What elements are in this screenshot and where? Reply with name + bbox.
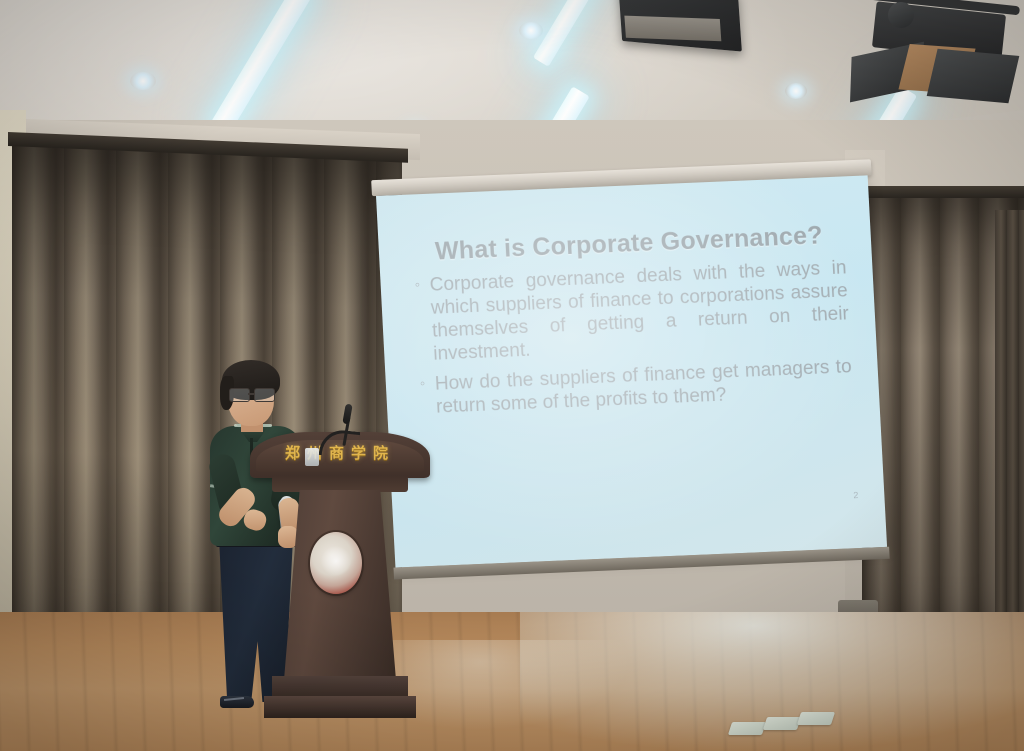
bullet-marker-icon: ◦ [419,373,435,395]
slide: What is Corporate Governance? ◦ Corporat… [376,175,887,567]
curtain-rail-right [858,186,1024,198]
floor-marker [728,722,766,735]
slide-number: 2 [853,490,859,500]
downlight-1 [130,72,156,90]
slide-bullet-2-text: How do the suppliers of finance get mana… [434,355,853,418]
projection-screen: What is Corporate Governance? ◦ Corporat… [376,175,889,599]
glasses-lens-right [254,388,275,402]
lectern: 郑州商学院 [250,432,430,722]
downlight-4 [785,83,807,99]
water-glass [305,448,319,466]
lectern-neck [272,476,408,492]
glasses-icon [229,388,275,400]
slide-bullet-1: ◦ Corporate governance deals with the wa… [414,256,850,366]
floor-marker [763,717,801,730]
slide-bullet-1-text: Corporate governance deals with the ways… [429,256,850,365]
slide-bullet-2: ◦ How do the suppliers of finance get ma… [419,355,853,419]
glasses-lens-left [229,388,250,402]
stage-light-fixture [844,0,1024,112]
curtain-far-right [995,210,1024,630]
lecture-hall-photo: What is Corporate Governance? ◦ Corporat… [0,0,1024,751]
screen-surface: What is Corporate Governance? ◦ Corporat… [376,175,887,567]
floor-marker [797,712,835,725]
bullet-marker-icon: ◦ [414,274,430,296]
university-crest-icon [310,532,362,594]
lectern-base-lower [264,696,416,718]
barn-door-right [927,49,1020,103]
downlight-2 [519,22,543,39]
